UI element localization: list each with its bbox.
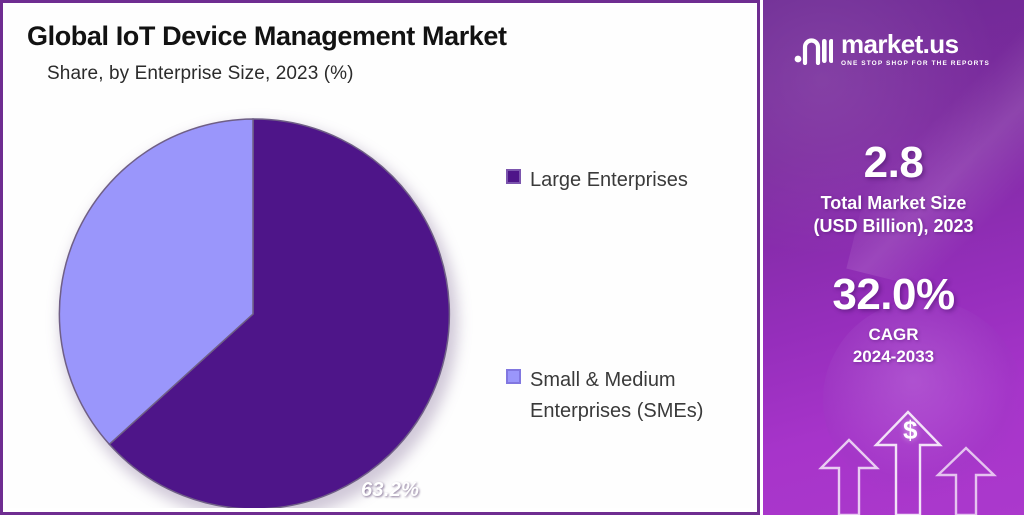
legend-label: Large Enterprises	[530, 165, 688, 196]
page-subtitle: Share, by Enterprise Size, 2023 (%)	[47, 63, 354, 85]
summary-side-panel: market.us ONE STOP SHOP FOR THE REPORTS …	[763, 0, 1024, 515]
market-report-infographic: Global IoT Device Management Market Shar…	[0, 0, 1024, 515]
brand-tagline: ONE STOP SHOP FOR THE REPORTS	[841, 60, 990, 67]
market-us-logo-icon	[793, 33, 833, 65]
brand-logo-text: market.us ONE STOP SHOP FOR THE REPORTS	[841, 31, 990, 67]
legend-label: Small & Medium Enterprises (SMEs)	[530, 365, 703, 427]
stat-value: 2.8	[763, 140, 1024, 186]
growth-arrows-icon	[801, 400, 1011, 515]
legend-item-large-enterprises[interactable]: Large Enterprises	[506, 165, 688, 196]
brand-logo[interactable]: market.us ONE STOP SHOP FOR THE REPORTS	[793, 31, 990, 67]
brand-name: market.us	[841, 31, 990, 57]
stat-label-line1: Total Market Size	[763, 192, 1024, 215]
stat-label-line2: (USD Billion), 2023	[763, 215, 1024, 238]
stat-value: 32.0%	[763, 272, 1024, 318]
legend-marker-icon	[506, 369, 521, 384]
pie-chart: 63.2%	[54, 115, 452, 509]
stat-label: CAGR 2024-2033	[763, 324, 1024, 368]
pie-slice-label-large-enterprises: 63.2%	[361, 479, 419, 502]
legend-marker-icon	[506, 169, 521, 184]
page-title: Global IoT Device Management Market	[27, 21, 507, 52]
stat-total-market-size: 2.8 Total Market Size (USD Billion), 202…	[763, 140, 1024, 238]
chart-panel: Global IoT Device Management Market Shar…	[0, 0, 760, 515]
pie-svg	[54, 115, 452, 509]
stat-cagr: 32.0% CAGR 2024-2033	[763, 272, 1024, 368]
legend-item-smes[interactable]: Small & Medium Enterprises (SMEs)	[506, 365, 703, 427]
stat-label-line1: CAGR	[763, 324, 1024, 346]
stat-label: Total Market Size (USD Billion), 2023	[763, 192, 1024, 238]
stat-label-line2: 2024-2033	[763, 346, 1024, 368]
chart-panel-inner: Global IoT Device Management Market Shar…	[6, 6, 754, 509]
legend-label-line1: Small & Medium	[530, 369, 676, 391]
legend-label-line2: Enterprises (SMEs)	[530, 400, 703, 422]
